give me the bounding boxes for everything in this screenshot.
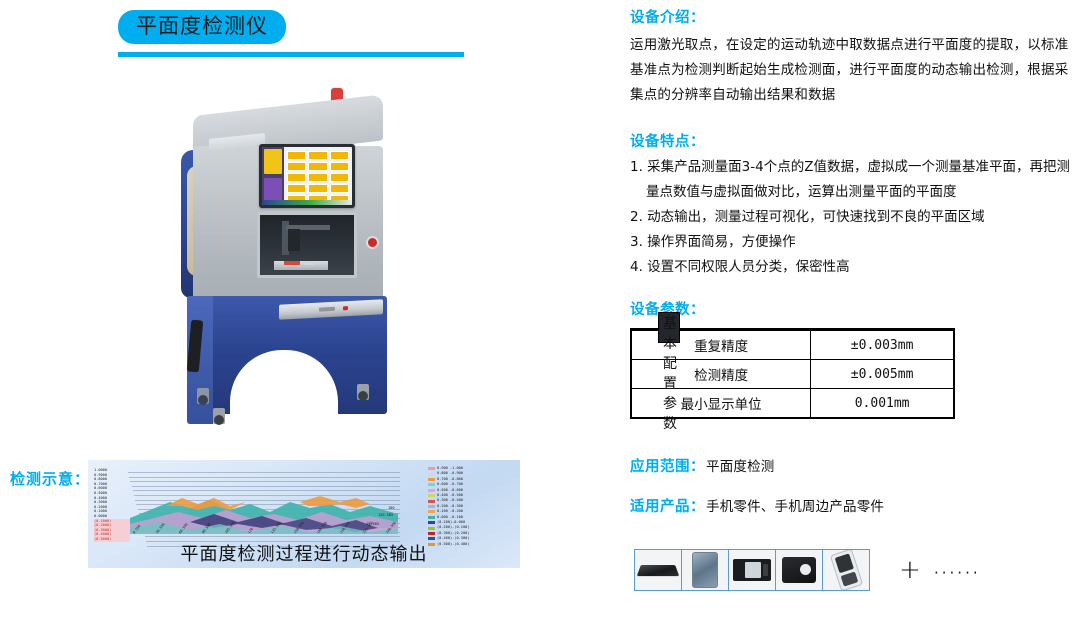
products-heading: 适用产品： — [630, 495, 705, 516]
product-thumbnail-metal-phone-backplate[interactable] — [681, 549, 729, 591]
chart-depth-label: 45.585 — [366, 522, 379, 526]
page-title: 平面度检测仪 — [118, 10, 286, 44]
gridline — [132, 486, 400, 487]
gridline — [129, 477, 400, 478]
parameters-table: 基本配置参数 重复精度±0.003mm检测精度±0.005mm最小显示单位0.0… — [630, 328, 955, 419]
param-name: 检测精度 — [631, 360, 811, 389]
feature-item-4: 4. 设置不同权限人员分类，保密性高 — [630, 255, 1076, 280]
section-application: 应用范围： 平面度检测 — [630, 455, 1070, 480]
work-stage — [274, 261, 328, 270]
feature-item-3: 3. 操作界面简易，方便操作 — [630, 230, 1076, 255]
chart-y-axis: 1.00000.90000.80000.70000.60000.50000.40… — [94, 468, 130, 542]
features-heading: 设备特点： — [630, 130, 1076, 151]
legend-swatch — [428, 500, 435, 503]
chart-surface-plot — [130, 488, 398, 534]
feature-item-1: 1. 采集产品测量面3-4个点的Z值数据，虚拟成一个测量基准平面，再把测量点数值… — [630, 155, 1076, 205]
machine-photo — [175, 88, 405, 433]
introduction-heading: 设备介绍： — [630, 6, 1070, 27]
product-thumbnail-strip — [634, 549, 869, 591]
section-parameters: 设备参数： 基本配置参数 重复精度±0.003mm检测精度±0.005mm最小显… — [630, 298, 1070, 419]
plus-icon: + — [899, 553, 921, 587]
legend-swatch — [428, 516, 435, 519]
chart-caption: 平面度检测过程进行动态输出 — [88, 540, 520, 566]
param-value: 0.001mm — [811, 389, 954, 419]
product-thumbnail-black-slab-part[interactable] — [634, 549, 682, 591]
legend-swatch — [428, 505, 435, 508]
table-row: 检测精度±0.005mm — [631, 360, 954, 389]
product-thumbnail-black-phone-back-camera[interactable] — [775, 549, 823, 591]
features-list: 1. 采集产品测量面3-4个点的Z值数据，虚拟成一个测量基准平面，再把测量点数值… — [630, 155, 1076, 280]
product-thumbnail-slider-phone[interactable] — [728, 549, 776, 591]
screen-taskbar — [262, 200, 352, 205]
section-introduction: 设备介绍： 运用激光取点，在设定的运动轨迹中取数据点进行平面度的提取，以标准基准… — [630, 6, 1070, 108]
legend-swatch — [428, 483, 435, 486]
specimen-white — [304, 261, 314, 265]
table-row: 最小显示单位0.001mm — [631, 389, 954, 419]
param-name: 最小显示单位 — [631, 389, 811, 419]
param-value: ±0.003mm — [811, 331, 954, 360]
legend-swatch — [428, 510, 435, 513]
ellipsis-icon: ······ — [934, 556, 981, 590]
caster-wheel — [213, 408, 225, 424]
right-column: 设备介绍： 运用激光取点，在设定的运动轨迹中取数据点进行平面度的提取，以标准基准… — [616, 0, 1078, 625]
diagram-label: 检测示意： — [10, 468, 90, 489]
legend-swatch — [428, 521, 435, 524]
feature-item-2: 2. 动态输出，测量过程可视化，可快速找到不良的平面区域 — [630, 205, 1076, 230]
emergency-stop-button[interactable] — [366, 236, 379, 249]
title-divider — [118, 52, 464, 57]
parameters-heading: 设备参数： — [630, 298, 1070, 319]
legend-swatch — [428, 489, 435, 492]
screen-image-panel — [262, 147, 284, 205]
screen-data-grid — [284, 147, 352, 205]
laser-head — [288, 229, 300, 251]
legend-swatch — [428, 478, 435, 481]
product-spec-page: 平面度检测仪 — [0, 0, 1078, 625]
legend-swatch — [428, 473, 435, 476]
monitor-screen — [262, 147, 352, 205]
chart-legend: 0.900 -1.0000.800 -0.9000.700 -0.8000.60… — [428, 466, 516, 547]
application-value: 平面度检测 — [706, 455, 775, 480]
legend-swatch — [428, 527, 435, 530]
product-thumbnail-phone-bezel-keypad[interactable] — [822, 549, 870, 591]
introduction-body: 运用激光取点，在设定的运动轨迹中取数据点进行平面度的提取，以标准基准点为检测判断… — [630, 33, 1070, 108]
section-features: 设备特点： 1. 采集产品测量面3-4个点的Z值数据，虚拟成一个测量基准平面，再… — [630, 130, 1076, 280]
legend-swatch — [428, 532, 435, 535]
left-column: 平面度检测仪 — [0, 0, 600, 625]
application-heading: 应用范围： — [630, 455, 705, 476]
caster-wheel — [357, 384, 369, 400]
section-products: 适用产品： 手机零件、手机周边产品零件 — [630, 495, 1070, 520]
chart-depth-label: 180 — [388, 506, 395, 510]
param-value: ±0.005mm — [811, 360, 954, 389]
products-value: 手机零件、手机周边产品零件 — [706, 495, 884, 520]
chart-depth-label: 120.585 — [378, 513, 393, 517]
machine-work-chamber — [257, 212, 357, 278]
flatness-surface-chart: 1.00000.90000.80000.70000.60000.50000.40… — [88, 460, 520, 568]
parameters-table-title: 基本配置参数 — [658, 312, 680, 343]
gridline — [130, 481, 400, 482]
specimen-red — [284, 261, 300, 265]
caster-wheel — [197, 388, 209, 404]
legend-swatch — [428, 494, 435, 497]
legend-swatch — [428, 467, 435, 470]
gridline — [128, 472, 400, 473]
machine-monitor — [259, 144, 355, 208]
